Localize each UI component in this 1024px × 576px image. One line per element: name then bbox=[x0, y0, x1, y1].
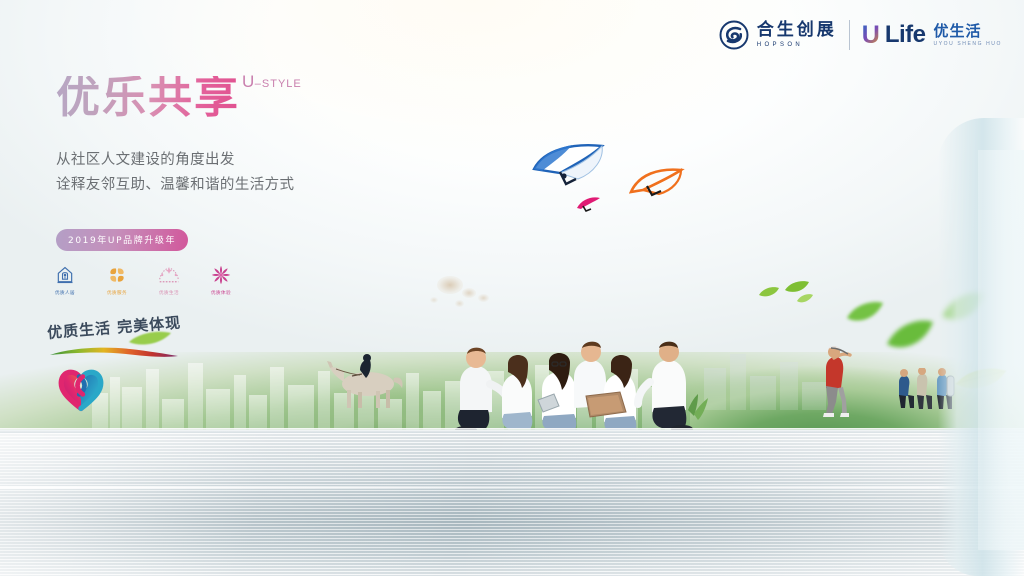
house-shield-icon bbox=[55, 264, 75, 286]
rainbow-brush-stroke bbox=[48, 345, 180, 359]
deck-highlight-band bbox=[0, 486, 1024, 489]
ulife-name-cn: 优生活 bbox=[933, 24, 1002, 39]
title-superscript: U –STYLE bbox=[242, 72, 302, 92]
deck-sheen bbox=[0, 430, 1024, 576]
ulife-u-mark: U bbox=[862, 23, 880, 48]
pillar-item-3: 优质体验 bbox=[206, 264, 236, 296]
ulife-logo: U Life 优生活 UYOU SHENG HUO bbox=[862, 23, 1002, 48]
four-petal-flower-icon bbox=[107, 264, 127, 286]
headline-block: 优乐共享 U –STYLE 从社区人文建设的角度出发 诠释友邻互助、温馨和谐的生… bbox=[56, 76, 302, 199]
sparkle-arc-icon bbox=[158, 264, 180, 286]
brand-logo-bar: 合生创展 HOPSON U Life 优生活 UYOU SHENG HUO bbox=[719, 20, 1002, 50]
pillar-label-1: 优质服务 bbox=[107, 290, 127, 296]
hopson-logo: 合生创展 HOPSON bbox=[719, 20, 837, 50]
ribbon-heart-logo bbox=[56, 366, 106, 412]
title-sup-u: U bbox=[242, 72, 255, 92]
logo-divider bbox=[849, 20, 850, 50]
golfer-swing-photo bbox=[812, 342, 856, 418]
hopson-spiral-icon bbox=[719, 20, 749, 50]
equestrian-rider-photo bbox=[316, 344, 408, 412]
subtitle-line-2: 诠释友邻互助、温馨和谐的生活方式 bbox=[56, 173, 302, 198]
pillar-item-0: 优质人居 bbox=[50, 264, 80, 296]
pillar-item-1: 优质服务 bbox=[102, 264, 132, 296]
marketing-slide: 合生创展 HOPSON U Life 优生活 UYOU SHENG HUO 优乐… bbox=[0, 0, 1024, 576]
slogan-block: 优质生活 完美体现 bbox=[48, 322, 188, 359]
hang-glider-orange bbox=[629, 166, 685, 200]
deck-top-edge bbox=[0, 428, 1024, 433]
pillar-label-0: 优质人居 bbox=[55, 290, 75, 296]
pillar-label-2: 优质生活 bbox=[159, 290, 179, 296]
ulife-name-pinyin: UYOU SHENG HUO bbox=[933, 42, 1002, 47]
ulife-wordmark: Life bbox=[885, 23, 926, 47]
title-sup-style: –STYLE bbox=[255, 78, 302, 90]
hopson-name-cn: 合生创展 bbox=[757, 22, 837, 39]
glass-edge-inner bbox=[978, 150, 1024, 550]
pillar-icon-row: 优质人居 优质服务 bbox=[50, 264, 236, 296]
pillar-item-2: 优质生活 bbox=[154, 264, 184, 296]
hang-glider-pink bbox=[576, 196, 602, 212]
students-group-photo bbox=[446, 334, 714, 438]
hopson-name-en: HOPSON bbox=[757, 42, 837, 48]
hang-glider-blue bbox=[530, 143, 620, 195]
subtitle-line-1: 从社区人文建设的角度出发 bbox=[56, 148, 302, 173]
snowflake-bloom-icon bbox=[211, 264, 231, 286]
subtitle: 从社区人文建设的角度出发 诠释友邻互助、温馨和谐的生活方式 bbox=[56, 148, 302, 199]
pillar-label-3: 优质体验 bbox=[211, 290, 231, 296]
status-badge: 2019年UP品牌升级年 bbox=[56, 229, 188, 251]
page-title: 优乐共享 bbox=[56, 76, 240, 120]
